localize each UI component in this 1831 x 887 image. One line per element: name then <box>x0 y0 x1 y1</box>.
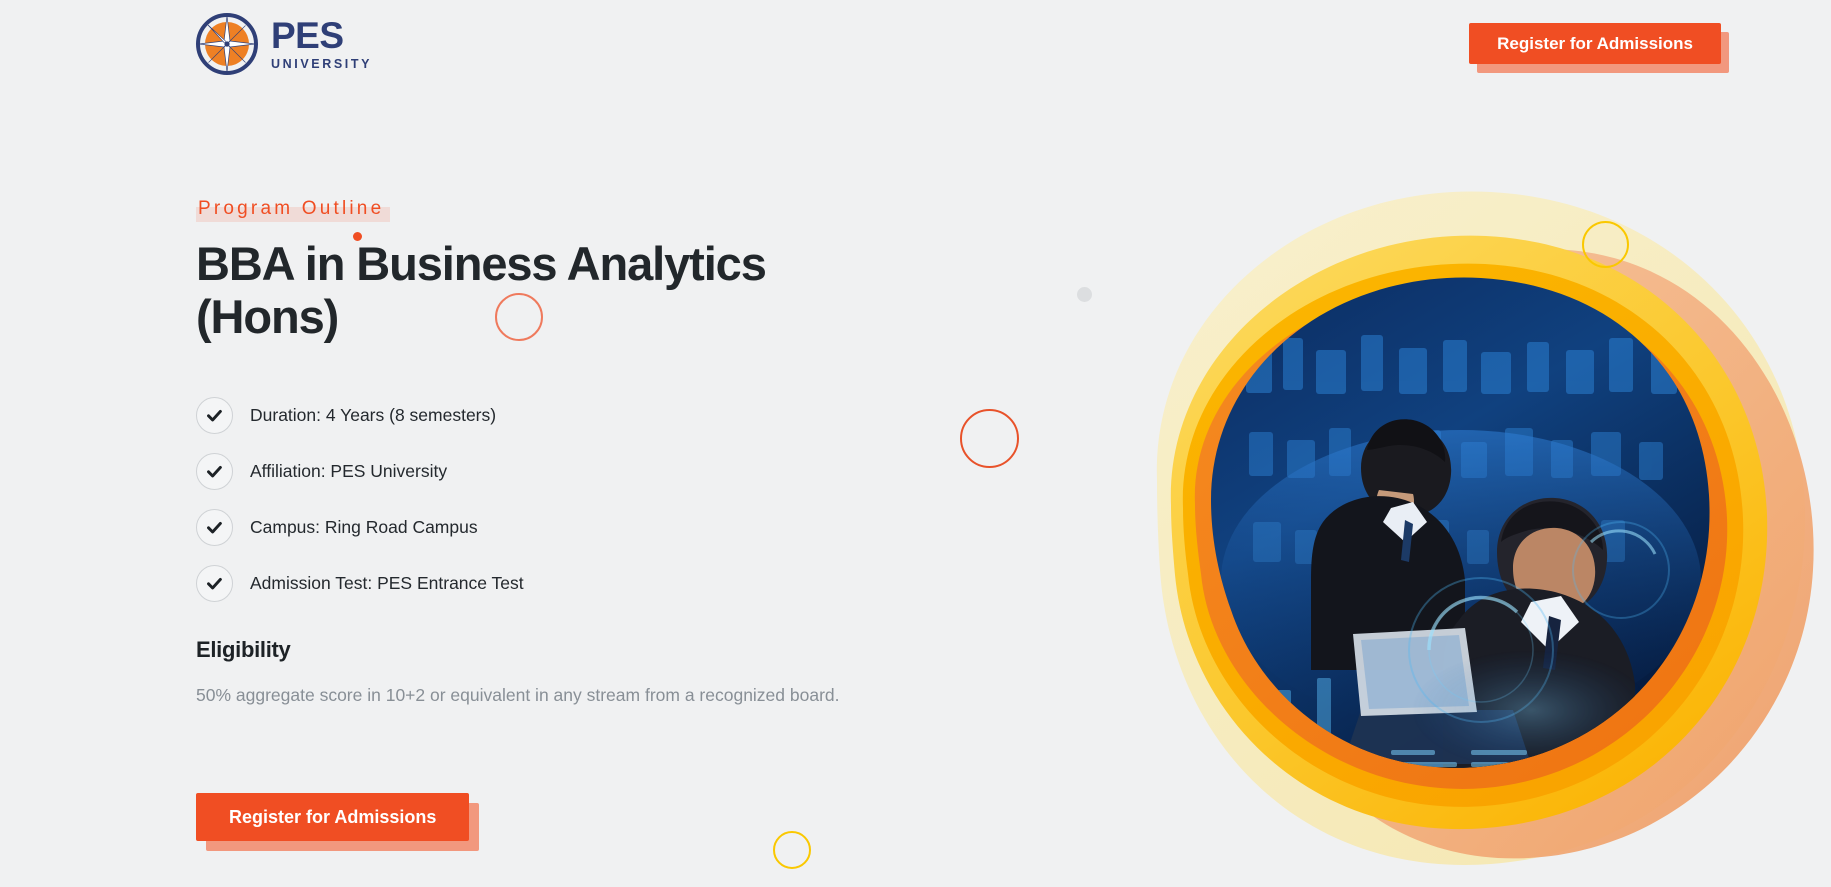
hero-register-for-admissions-button[interactable]: Register for Admissions <box>196 793 469 841</box>
hero-illustration <box>1061 150 1831 887</box>
eligibility-heading: Eligibility <box>196 637 876 663</box>
hero-content: Program Outline BBA in Business Analytic… <box>196 196 876 710</box>
header-register-cta-wrap: Register for Admissions <box>1469 23 1721 64</box>
check-icon <box>196 397 233 434</box>
list-item-label: Campus: Ring Road Campus <box>250 517 478 538</box>
list-item: Duration: 4 Years (8 semesters) <box>196 387 876 443</box>
logo-subtitle: UNIVERSITY <box>271 58 372 71</box>
dot-gray-icon <box>1077 287 1092 302</box>
compass-rose-icon <box>196 13 258 75</box>
eligibility-text: 50% aggregate score in 10+2 or equivalen… <box>196 681 846 709</box>
program-outline-eyebrow: Program Outline <box>196 196 390 223</box>
dot-orange-icon <box>353 232 362 241</box>
program-facts-list: Duration: 4 Years (8 semesters) Affiliat… <box>196 387 876 611</box>
page-root: PES UNIVERSITY Register for Admissions P… <box>0 0 1831 887</box>
logo-name: PES <box>271 17 372 54</box>
list-item-label: Duration: 4 Years (8 semesters) <box>250 405 496 426</box>
pes-university-logo[interactable]: PES UNIVERSITY <box>196 13 372 75</box>
eyebrow-label: Program Outline <box>198 198 384 219</box>
list-item-label: Affiliation: PES University <box>250 461 447 482</box>
ring-orange-small-icon <box>495 293 543 341</box>
list-item: Admission Test: PES Entrance Test <box>196 555 876 611</box>
check-icon <box>196 509 233 546</box>
header-register-for-admissions-button[interactable]: Register for Admissions <box>1469 23 1721 64</box>
logo-wordmark: PES UNIVERSITY <box>271 17 372 71</box>
list-item: Campus: Ring Road Campus <box>196 499 876 555</box>
ring-yellow-bottom-icon <box>773 831 811 869</box>
check-icon <box>196 565 233 602</box>
ring-yellow-top-right-icon <box>1582 221 1629 268</box>
list-item: Affiliation: PES University <box>196 443 876 499</box>
ring-orange-medium-icon <box>960 409 1019 468</box>
list-item-label: Admission Test: PES Entrance Test <box>250 573 524 594</box>
site-header: PES UNIVERSITY Register for Admissions <box>0 0 1831 100</box>
hero-register-cta-wrap: Register for Admissions <box>196 793 469 841</box>
check-icon <box>196 453 233 490</box>
